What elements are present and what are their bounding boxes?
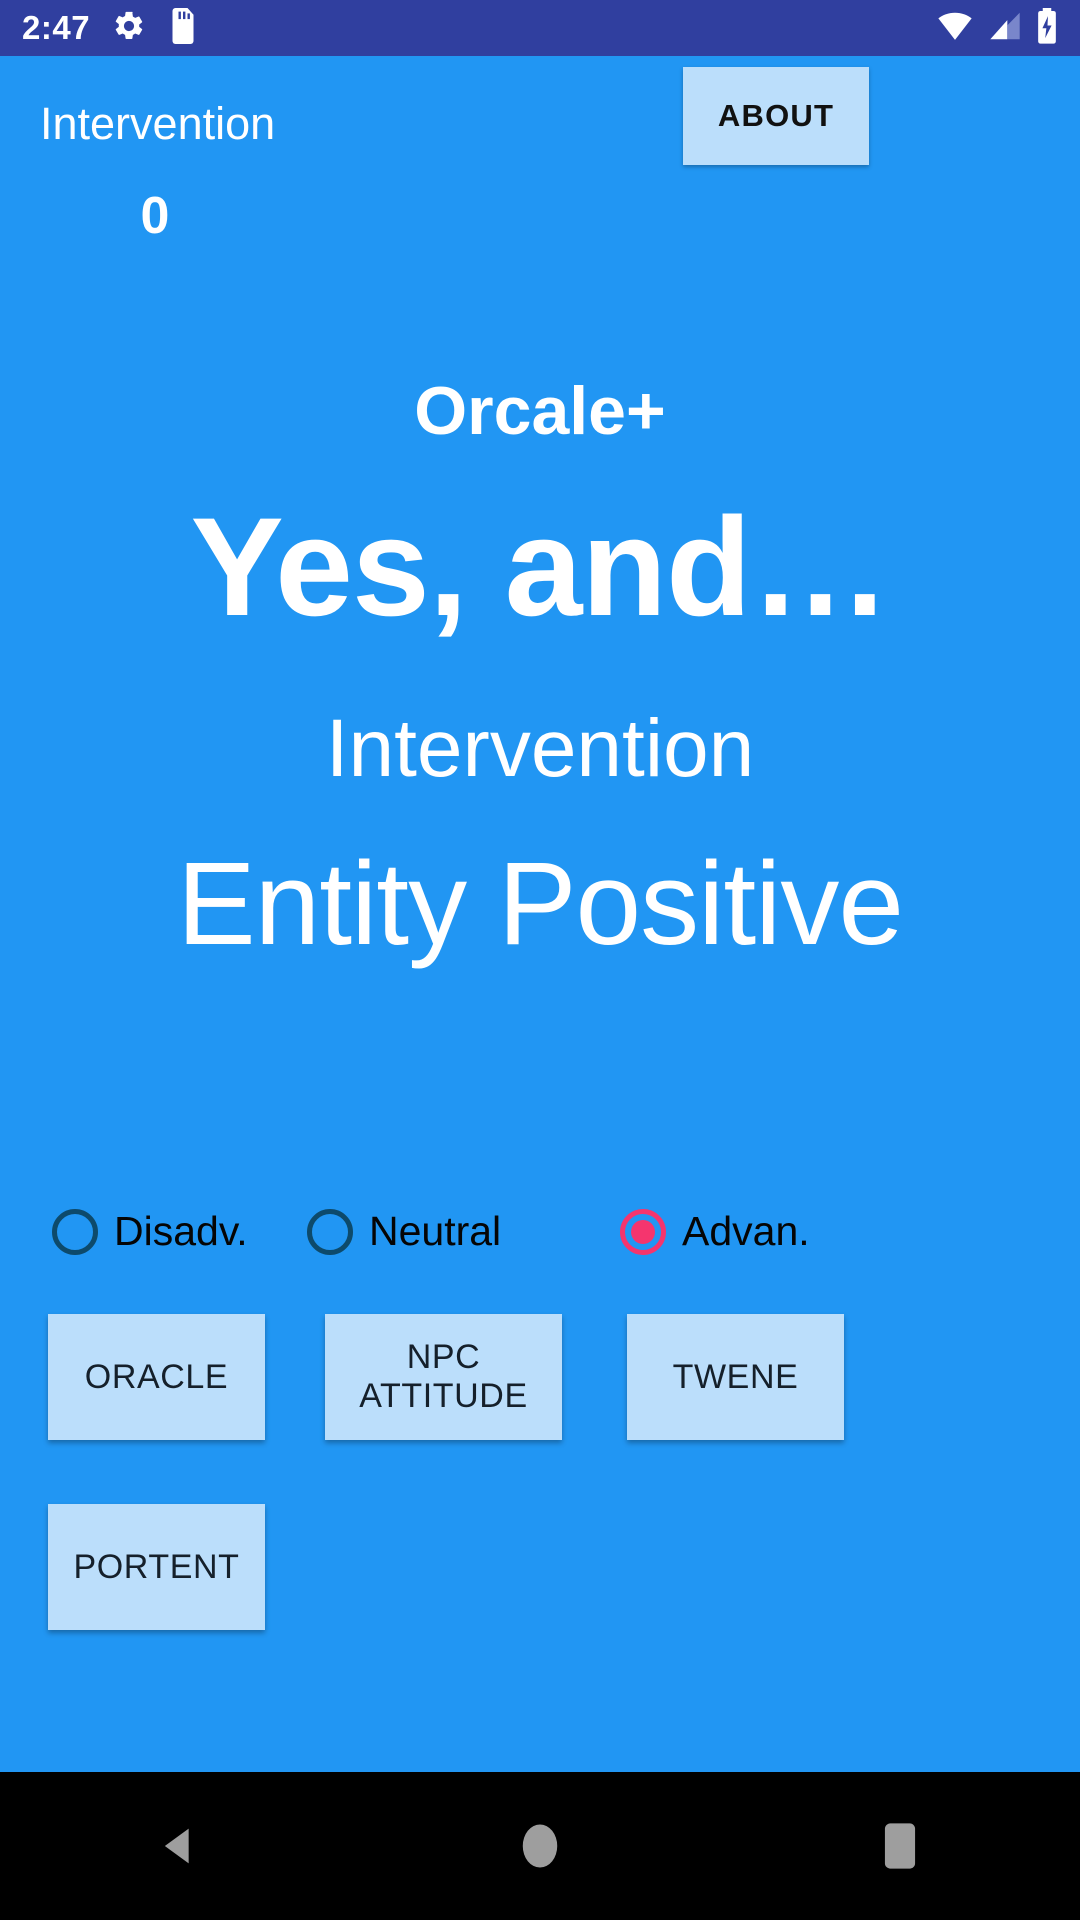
npc-attitude-button[interactable]: NPC ATTITUDE	[325, 1314, 562, 1440]
app-content: Intervention 0 ABOUT Orcale+ Yes, and… I…	[0, 56, 1080, 1772]
oracle-button[interactable]: ORACLE	[48, 1314, 265, 1440]
home-button[interactable]	[460, 1772, 620, 1920]
status-bar-left: 2:47	[22, 8, 198, 49]
recents-square-icon	[877, 1818, 923, 1874]
battery-charging-icon	[1036, 8, 1058, 49]
radio-option-disadv[interactable]: Disadv.	[52, 1208, 248, 1255]
back-button[interactable]	[100, 1772, 260, 1920]
result-headline: Yes, and…	[0, 486, 1080, 648]
radio-mark-disadv[interactable]	[52, 1209, 98, 1255]
twene-button[interactable]: TWENE	[627, 1314, 844, 1440]
app-screen: 2:47 Intervention 0 ABOUT Orcale+ Y	[0, 0, 1080, 1920]
radio-dot-advan	[631, 1220, 655, 1244]
advantage-radio-group: Disadv. Neutral Advan.	[0, 1208, 1080, 1278]
recents-button[interactable]	[820, 1772, 980, 1920]
portent-button[interactable]: PORTENT	[48, 1504, 265, 1630]
radio-label-disadv: Disadv.	[114, 1208, 248, 1255]
result-category-label: Intervention	[0, 702, 1080, 796]
gear-icon	[112, 9, 146, 48]
status-bar: 2:47	[0, 0, 1080, 56]
sd-card-icon	[168, 8, 198, 49]
radio-label-neutral: Neutral	[369, 1208, 501, 1255]
radio-label-advan: Advan.	[682, 1208, 810, 1255]
home-circle-icon	[517, 1818, 563, 1874]
result-value: Entity Positive	[0, 836, 1080, 972]
radio-option-advan[interactable]: Advan.	[620, 1208, 810, 1255]
status-bar-right	[936, 8, 1058, 49]
radio-option-neutral[interactable]: Neutral	[307, 1208, 501, 1255]
back-triangle-icon	[154, 1820, 206, 1872]
radio-mark-advan[interactable]	[620, 1209, 666, 1255]
system-navigation-bar	[0, 1772, 1080, 1920]
about-button[interactable]: ABOUT	[683, 67, 869, 165]
cell-signal-icon	[988, 10, 1022, 47]
radio-mark-neutral[interactable]	[307, 1209, 353, 1255]
wifi-icon	[936, 10, 974, 47]
counter-value: 0	[0, 186, 310, 246]
app-title: Orcale+	[0, 372, 1080, 450]
status-bar-clock: 2:47	[22, 9, 90, 47]
counter-label: Intervention	[40, 98, 275, 150]
